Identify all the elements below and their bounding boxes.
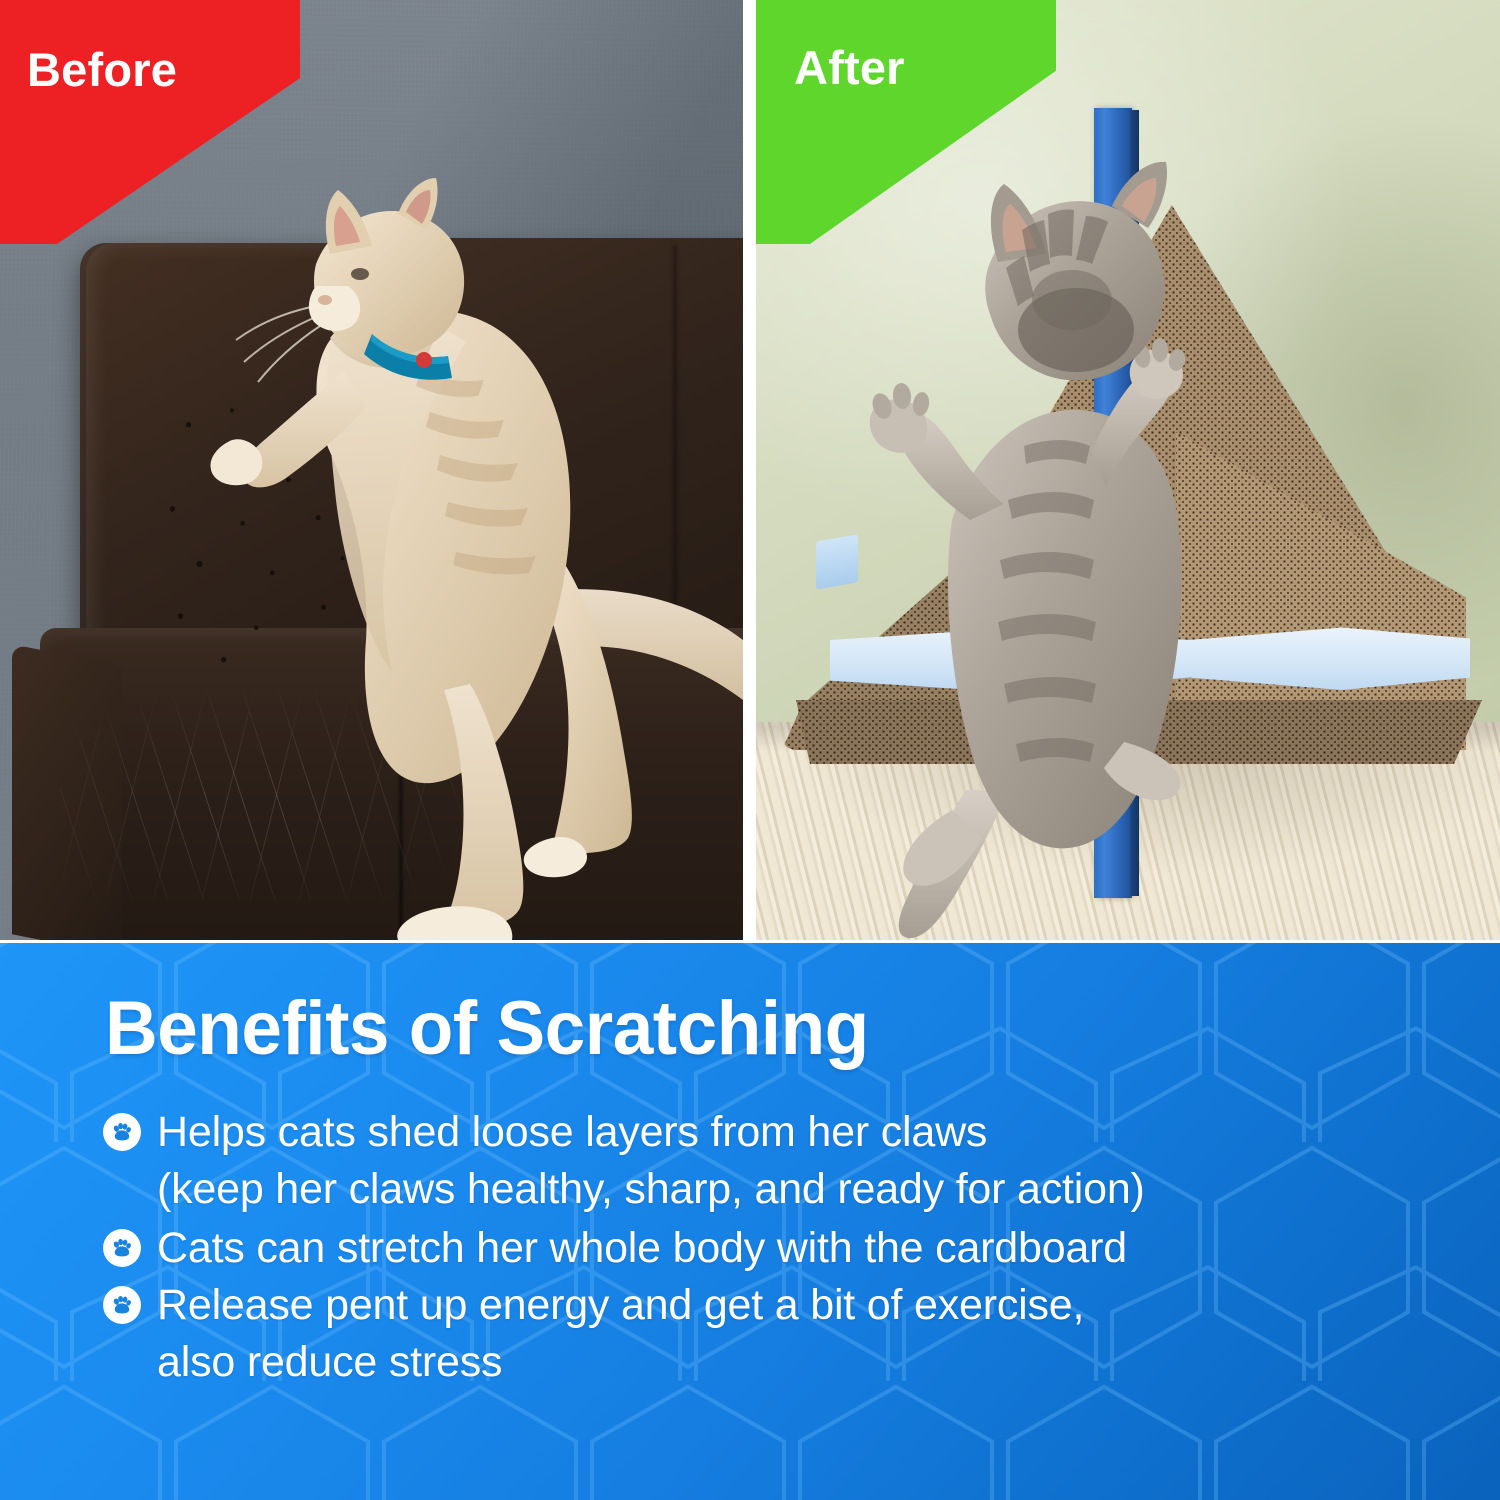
list-item-text: Release pent up energy and get a bit of … xyxy=(157,1278,1084,1333)
product-infographic: Before xyxy=(0,0,1500,1500)
comparison-photo-row: Before xyxy=(0,0,1500,943)
list-item: Release pent up energy and get a bit of … xyxy=(103,1278,1443,1333)
list-item-continuation: (keep her claws healthy, sharp, and read… xyxy=(157,1162,1443,1217)
list-item-continuation: also reduce stress xyxy=(157,1335,1443,1390)
paw-icon xyxy=(103,1113,141,1151)
list-item-text: Helps cats shed loose layers from her cl… xyxy=(157,1105,987,1160)
before-badge-label: Before xyxy=(27,46,177,93)
after-photo: After xyxy=(756,0,1500,940)
list-item-text: Cats can stretch her whole body with the… xyxy=(157,1221,1127,1276)
list-item: Helps cats shed loose layers from her cl… xyxy=(103,1105,1443,1160)
paw-icon xyxy=(103,1229,141,1267)
list-item: Cats can stretch her whole body with the… xyxy=(103,1221,1443,1276)
page-title: Benefits of Scratching xyxy=(105,991,869,1067)
benefits-list: Helps cats shed loose layers from her cl… xyxy=(103,1105,1443,1394)
after-badge-label: After xyxy=(794,44,905,91)
before-photo: Before xyxy=(0,0,743,940)
paw-icon xyxy=(103,1286,141,1324)
benefits-panel: Benefits of Scratching Helps cats shed l… xyxy=(0,943,1500,1500)
